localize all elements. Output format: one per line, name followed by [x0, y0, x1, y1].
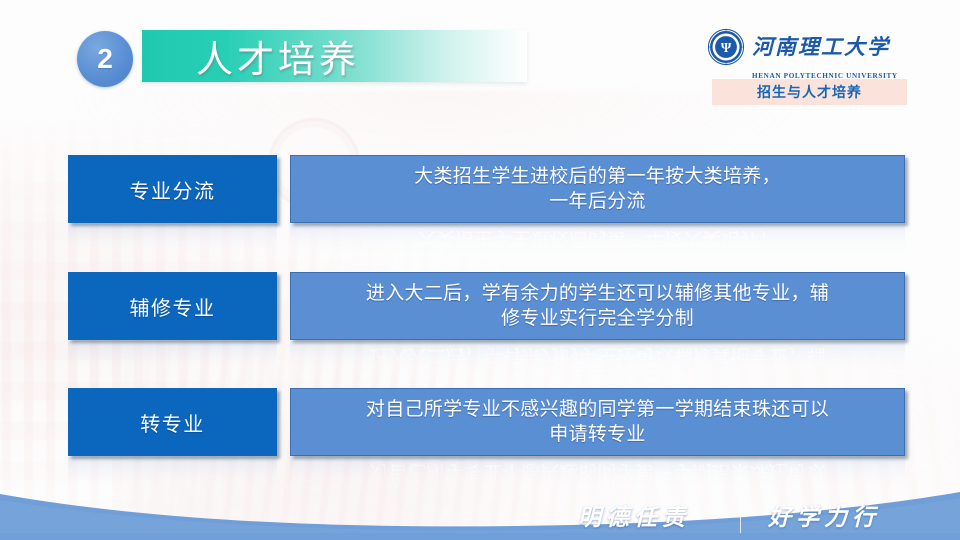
- motto-left: 明德任责: [578, 498, 690, 532]
- row-content-text: 进入大二后，学有余力的学生还可以辅修其他专业，辅 修专业实行完全学分制: [366, 281, 829, 331]
- label-reflection: [68, 341, 277, 381]
- sub-banner-text: 招生与人才培养: [757, 82, 862, 102]
- page-title: 人才培养: [196, 30, 526, 82]
- row-content-line1: 对自己所学专业不感兴趣的同学第一学期结束珠还可以: [366, 398, 829, 420]
- row-content-line2: 修专业实行完全学分制: [501, 307, 694, 329]
- row-label-text: 专业分流: [130, 175, 216, 204]
- reflection-ghost-text: 进入大二后，学有余力的学生还可以辅修其他专业，辅: [290, 343, 905, 368]
- row-content-box[interactable]: 进入大二后，学有余力的学生还可以辅修其他专业，辅 修专业实行完全学分制: [290, 272, 905, 340]
- row-label-box[interactable]: 辅修专业: [68, 272, 277, 340]
- reflection-ghost-text: 大类招生学生进校后的第一年按大类培养，: [290, 226, 905, 251]
- content-row: 大类招生学生进校后的第一年按大类培养， 专业分流 大类招生学生进校后的第一年按大…: [0, 155, 960, 223]
- content-reflection: 大类招生学生进校后的第一年按大类培养，: [290, 224, 905, 264]
- university-emblem-icon: Ψ: [707, 28, 745, 66]
- section-number-badge: 2: [77, 31, 133, 87]
- content-reflection: 进入大二后，学有余力的学生还可以辅修其他专业，辅: [290, 341, 905, 381]
- row-label-box[interactable]: 转专业: [68, 388, 277, 456]
- label-reflection: [68, 224, 277, 264]
- row-content-line2: 申请转专业: [549, 423, 646, 445]
- content-row: 进入大二后，学有余力的学生还可以辅修其他专业，辅 辅修专业 进入大二后，学有余力…: [0, 272, 960, 340]
- row-content-text: 对自己所学专业不感兴趣的同学第一学期结束珠还可以 申请转专业: [366, 397, 829, 447]
- svg-text:Ψ: Ψ: [721, 40, 732, 55]
- motto-right: 好学力行: [768, 498, 880, 532]
- content-row: 对自己所学专业不感兴趣的同学第一学期结束珠还可以 转专业 对自己所学专业不感兴趣…: [0, 388, 960, 456]
- row-content-line2: 一年后分流: [549, 190, 646, 212]
- footer-wave: 明德任责 好学力行: [0, 480, 960, 540]
- slide: 2 人才培养 Ψ 河南理工大学 HENAN POLYTECHNIC UNIVER…: [0, 0, 960, 540]
- sub-banner: 招生与人才培养: [712, 79, 907, 105]
- footer-base-strip: [0, 533, 960, 540]
- row-content-line1: 进入大二后，学有余力的学生还可以辅修其他专业，辅: [366, 282, 829, 304]
- section-number-text: 2: [97, 45, 113, 73]
- row-content-box[interactable]: 对自己所学专业不感兴趣的同学第一学期结束珠还可以 申请转专业: [290, 388, 905, 456]
- row-content-box[interactable]: 大类招生学生进校后的第一年按大类培养， 一年后分流: [290, 155, 905, 223]
- row-content-text: 大类招生学生进校后的第一年按大类培养， 一年后分流: [414, 164, 781, 214]
- row-label-box[interactable]: 专业分流: [68, 155, 277, 223]
- row-label-text: 转专业: [140, 408, 205, 437]
- motto-divider: [740, 500, 741, 534]
- university-name-cn: 河南理工大学: [752, 37, 890, 58]
- row-content-line1: 大类招生学生进校后的第一年按大类培养，: [414, 165, 781, 187]
- row-label-text: 辅修专业: [130, 292, 216, 321]
